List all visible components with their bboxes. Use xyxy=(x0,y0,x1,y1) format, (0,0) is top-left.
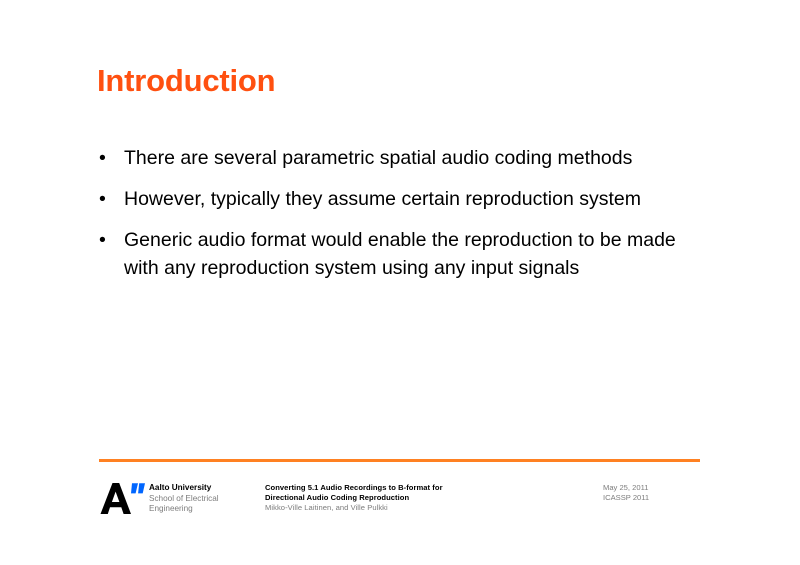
aalto-logo: Aalto University School of Electrical En… xyxy=(99,482,219,516)
school-name-line-1: School of Electrical xyxy=(149,494,219,505)
footer-divider xyxy=(99,459,700,462)
list-item-text: There are several parametric spatial aud… xyxy=(124,144,697,172)
paper-title-line-1: Converting 5.1 Audio Recordings to B-for… xyxy=(265,483,443,493)
bullet-point-icon: • xyxy=(99,144,106,172)
list-item: • Generic audio format would enable the … xyxy=(97,226,697,282)
university-name: Aalto University xyxy=(149,483,219,494)
aalto-wordmark: Aalto University School of Electrical En… xyxy=(149,482,219,515)
presentation-slide: Introduction • There are several paramet… xyxy=(0,0,800,565)
list-item: • However, typically they assume certain… xyxy=(97,185,697,213)
paper-title-line-2: Directional Audio Coding Reproduction xyxy=(265,493,443,503)
bullet-point-icon: • xyxy=(99,226,106,254)
aalto-a-mark-icon xyxy=(99,482,145,516)
presentation-date: May 25, 2011 xyxy=(603,483,649,493)
page-title: Introduction xyxy=(97,63,275,99)
bullet-point-icon: • xyxy=(99,185,106,213)
paper-authors: Mikko-Ville Laitinen, and Ville Pulkki xyxy=(265,503,443,513)
list-item-text: Generic audio format would enable the re… xyxy=(124,226,697,282)
school-name-line-2: Engineering xyxy=(149,504,219,515)
list-item-text: However, typically they assume certain r… xyxy=(124,185,697,213)
bullet-list: • There are several parametric spatial a… xyxy=(97,144,697,282)
paper-info: Converting 5.1 Audio Recordings to B-for… xyxy=(265,483,443,513)
list-item: • There are several parametric spatial a… xyxy=(97,144,697,172)
footer-meta: May 25, 2011 ICASSP 2011 xyxy=(603,483,649,503)
slide-footer: Aalto University School of Electrical En… xyxy=(99,482,700,522)
conference-name: ICASSP 2011 xyxy=(603,493,649,503)
